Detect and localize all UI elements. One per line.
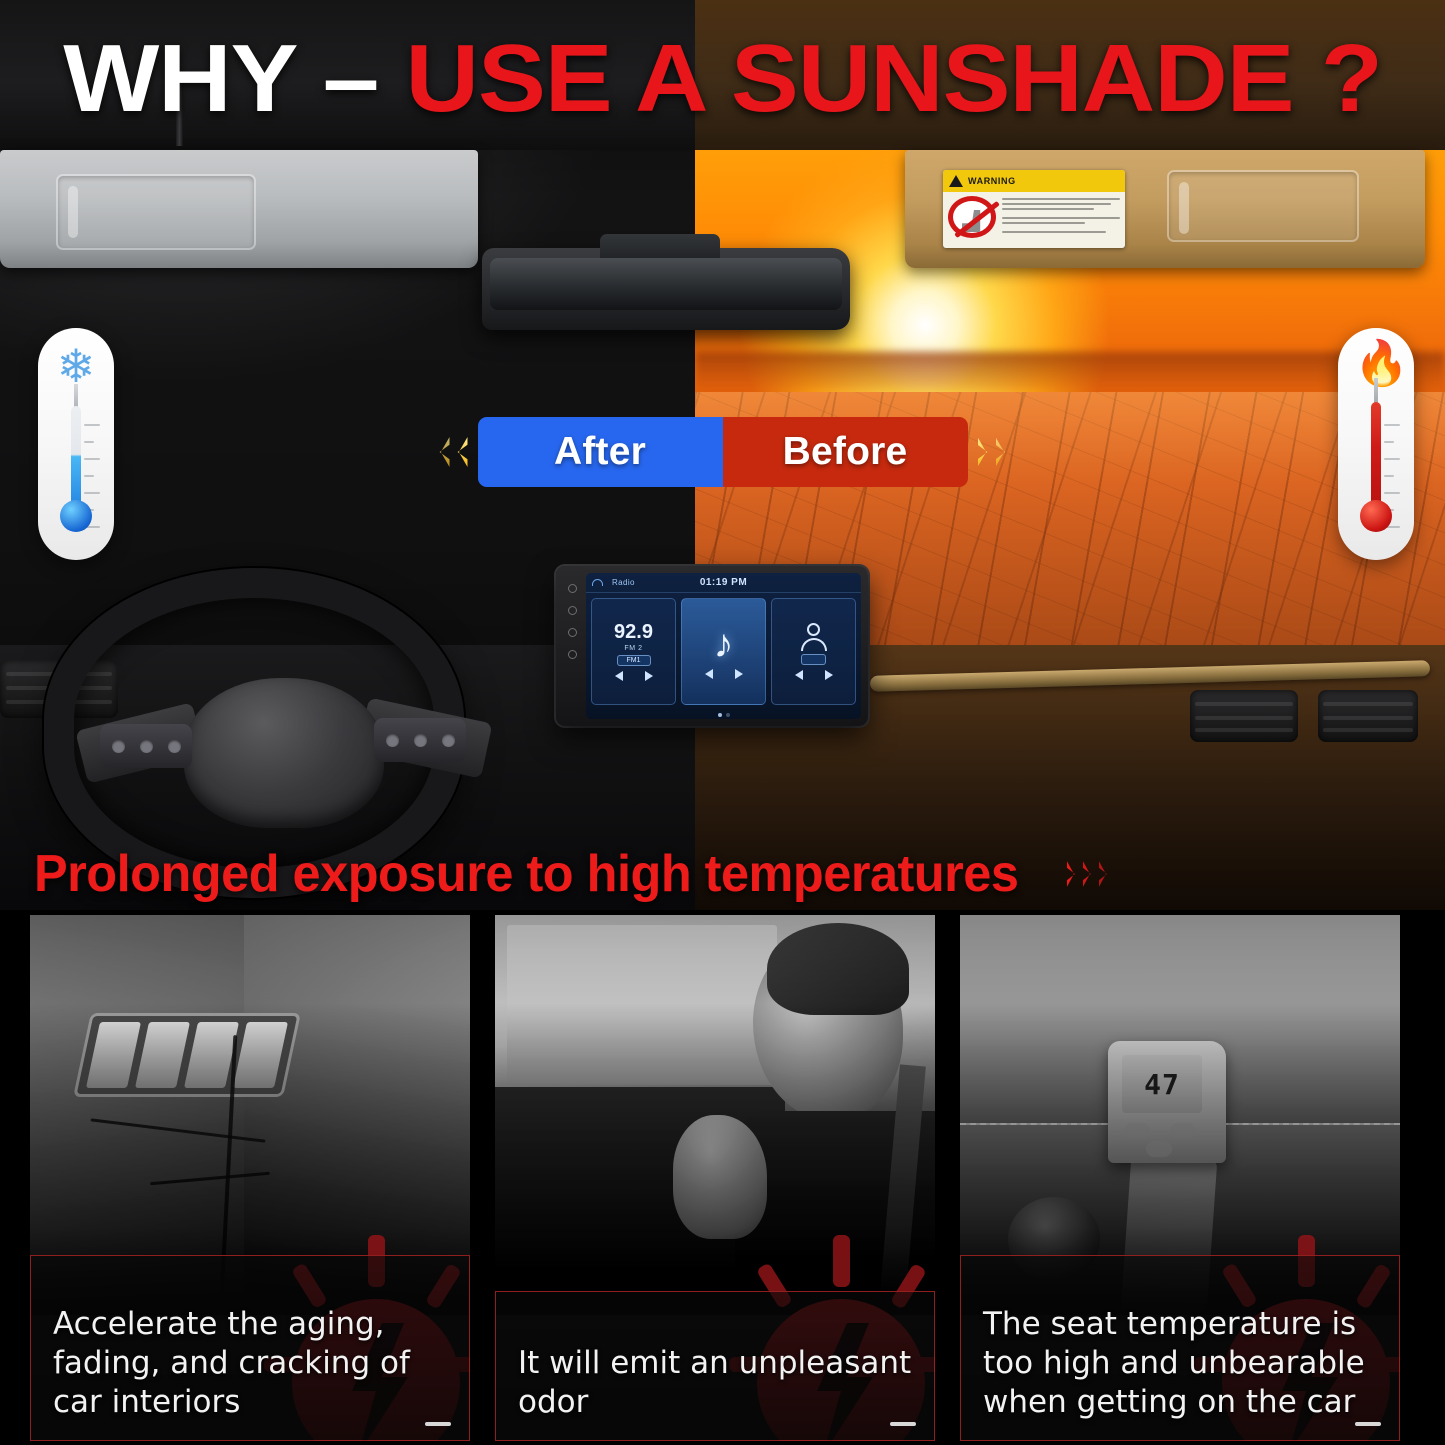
radio-frequency: 92.9 <box>614 622 653 642</box>
person-fanning-hand <box>673 1115 767 1239</box>
radio-band: FM 2 <box>624 645 642 652</box>
warning-sticker-title: WARNING <box>968 176 1016 186</box>
seek-prev-icon[interactable] <box>615 671 623 681</box>
no-rear-facing-child-seat-icon <box>948 196 996 238</box>
media-transport-controls[interactable] <box>705 669 743 679</box>
sunshade-marketing-poster: WARNING <box>0 0 1445 1445</box>
phone-status-chip[interactable] <box>801 654 827 665</box>
seat-belt <box>878 1064 926 1315</box>
phone-tile[interactable] <box>771 598 856 705</box>
sun-visor-right: WARNING <box>905 150 1425 268</box>
infotainment-head-unit[interactable]: Radio 01:19 PM 92.9 FM 2 FM1 ♪ <box>556 566 868 726</box>
menu-button-icon[interactable] <box>568 650 577 659</box>
mirror-glass <box>490 258 842 310</box>
dashboard-vent <box>73 1013 301 1097</box>
panel-caption-text: It will emit an unpleasant odor <box>518 1344 914 1422</box>
panel-caption: It will emit an unpleasant odor <box>495 1291 935 1441</box>
cold-thermometer: ❄ <box>38 328 114 560</box>
seat-backrest <box>960 915 1400 1125</box>
head-unit-source-label: Radio <box>612 578 635 587</box>
radio-tile[interactable]: 92.9 FM 2 FM1 <box>591 598 676 705</box>
head-unit-screen[interactable]: Radio 01:19 PM 92.9 FM 2 FM1 ♪ <box>586 573 861 719</box>
car-door-panel <box>495 1087 785 1315</box>
signal-icon <box>592 579 603 586</box>
steering-wheel-airbag-hub <box>184 678 384 828</box>
panel-caption: Accelerate the aging, fading, and cracki… <box>30 1255 470 1441</box>
seek-next-icon[interactable] <box>645 671 653 681</box>
contact-browse-controls[interactable] <box>795 670 833 680</box>
infrared-thermometer-device: 47 <box>1108 1041 1226 1163</box>
child-seat-glyph <box>962 210 988 232</box>
radio-seek-controls[interactable] <box>615 671 653 681</box>
mid-banner-chevrons-icon <box>1067 861 1112 887</box>
power-button-icon[interactable] <box>568 584 577 593</box>
track-prev-icon[interactable] <box>705 669 713 679</box>
crack-line <box>150 1172 270 1185</box>
rear-view-mirror <box>482 248 850 330</box>
warning-triangle-icon <box>949 175 963 187</box>
before-badge[interactable]: Before <box>723 417 968 487</box>
person-torso <box>735 1111 935 1315</box>
panel-caption: The seat temperature is too high and unb… <box>960 1255 1400 1441</box>
before-after-toggle-row: After Before <box>0 414 1445 490</box>
chevron-left-icon <box>424 437 478 467</box>
volume-button-icon[interactable] <box>568 628 577 637</box>
thermometer-lcd: 47 <box>1122 1055 1202 1113</box>
air-vent-right-2 <box>1318 690 1418 742</box>
warning-sticker-header: WARNING <box>943 170 1125 192</box>
man-fanning-face-photo <box>495 915 935 1315</box>
person-hair <box>767 923 909 1015</box>
title-why: WHY <box>63 25 323 132</box>
caption-underscore-mark <box>425 1422 451 1426</box>
warning-sticker-text-lines <box>1002 196 1120 244</box>
device-button[interactable] <box>1170 1123 1196 1139</box>
device-button[interactable] <box>1124 1123 1150 1139</box>
panel-caption-text: Accelerate the aging, fading, and cracki… <box>53 1305 449 1422</box>
snowflake-icon: ❄ <box>52 342 100 390</box>
mid-banner: Prolonged exposure to high temperatures <box>0 836 1445 910</box>
home-button-icon[interactable] <box>568 606 577 615</box>
page-indicator-dots[interactable] <box>586 710 861 719</box>
person-head <box>753 935 903 1121</box>
warning-sticker-body <box>943 192 1125 248</box>
title-dash: – <box>323 25 406 132</box>
car-window <box>507 925 777 1085</box>
contacts-person-icon <box>801 623 827 651</box>
title-use-a-sunshade: USE A SUNSHADE ? <box>406 25 1382 132</box>
caption-underscore-mark <box>1355 1422 1381 1426</box>
head-unit-side-buttons[interactable] <box>564 584 580 659</box>
device-button[interactable] <box>1146 1141 1172 1157</box>
visor-pocket-lip <box>1179 182 1189 234</box>
steering-controls-right[interactable] <box>374 718 466 762</box>
hot-thermometer: 🔥 <box>1338 328 1414 560</box>
panel-seat-temp: 47 The seat temper <box>960 915 1400 1441</box>
head-unit-status-bar: Radio 01:19 PM <box>586 573 861 593</box>
panel-odor: It will emit an unpleasant odor <box>495 915 935 1441</box>
thermometer-bulb-hot <box>1360 500 1392 532</box>
caption-underscore-mark <box>890 1422 916 1426</box>
visor-pocket-left <box>56 174 256 250</box>
visor-pocket-lip <box>68 186 78 238</box>
steering-controls-left[interactable] <box>100 724 192 768</box>
air-vent-right-1 <box>1190 690 1298 742</box>
music-note-icon: ♪ <box>714 624 734 664</box>
hero-comparison-scene: WARNING <box>0 0 1445 910</box>
thermometer-reading: 47 <box>1144 1068 1180 1101</box>
after-badge[interactable]: After <box>478 417 723 487</box>
contact-prev-icon[interactable] <box>795 670 803 680</box>
visor-pocket-right <box>1167 170 1359 242</box>
track-next-icon[interactable] <box>735 669 743 679</box>
panel-caption-text: The seat temperature is too high and unb… <box>983 1305 1379 1422</box>
mid-banner-text: Prolonged exposure to high temperatures <box>34 844 1018 904</box>
sun-visor-left <box>0 150 478 268</box>
airbag-warning-sticker: WARNING <box>943 170 1125 248</box>
page-title: WHY – USE A SUNSHADE ? <box>0 24 1445 134</box>
head-unit-clock: 01:19 PM <box>700 577 747 588</box>
head-unit-tiles: 92.9 FM 2 FM1 ♪ <box>586 593 861 710</box>
panel-aging: Accelerate the aging, fading, and cracki… <box>30 915 470 1441</box>
crack-line <box>90 1118 265 1142</box>
thermometer-column-hot <box>1371 402 1381 516</box>
consequence-panels: Accelerate the aging, fading, and cracki… <box>0 912 1445 1445</box>
chevron-right-icon <box>968 437 1022 467</box>
thermometer-bulb-cold <box>60 500 92 532</box>
contact-next-icon[interactable] <box>825 670 833 680</box>
media-tile[interactable]: ♪ <box>681 598 766 705</box>
radio-preset-chip[interactable]: FM1 <box>617 655 651 666</box>
